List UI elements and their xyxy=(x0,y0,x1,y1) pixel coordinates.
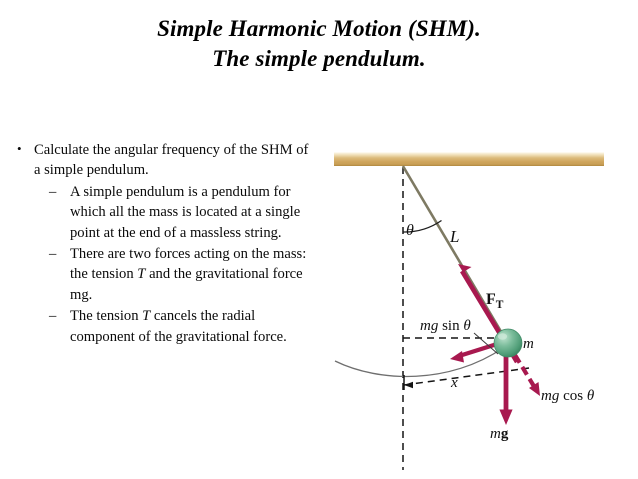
list-item-text: Calculate the angular frequency of the S… xyxy=(34,142,308,178)
bullet-marker-dash: – xyxy=(49,244,56,264)
label-mgcos-fn: cos xyxy=(563,388,583,404)
label-mgsin-mg: mg xyxy=(420,318,438,334)
list-item: – A simple pendulum is a pendulum for wh… xyxy=(8,182,318,243)
label-mg-cos-theta: mg cos θ xyxy=(541,389,594,404)
list-item-text: There are two forces acting on the mass:… xyxy=(70,246,306,303)
bullet-list: • Calculate the angular frequency of the… xyxy=(8,140,318,347)
list-item: • Calculate the angular frequency of the… xyxy=(8,140,318,181)
label-tension-F: F xyxy=(486,291,496,308)
displacement-left-arrowhead xyxy=(404,382,413,389)
label-displacement-x: x xyxy=(451,376,458,391)
pendulum-bob-mass xyxy=(494,329,522,357)
label-mass-m: m xyxy=(523,337,534,352)
pendulum-diagram-svg xyxy=(320,140,638,479)
bullet-marker-dot: • xyxy=(17,139,22,159)
label-mgsin-theta: θ xyxy=(463,318,470,334)
weight-arrowhead xyxy=(499,410,512,426)
list-item-text: A simple pendulum is a pendulum for whic… xyxy=(70,184,300,241)
list-item: – There are two forces acting on the mas… xyxy=(8,244,318,305)
title-line-2: The simple pendulum. xyxy=(0,44,638,74)
label-length-L: L xyxy=(450,228,459,245)
label-angle-theta: θ xyxy=(406,223,414,239)
label-weight-g: g xyxy=(501,426,509,442)
title-line-1: Simple Harmonic Motion (SHM). xyxy=(0,14,638,44)
label-mg-sin-theta: mg sin θ xyxy=(420,319,471,334)
label-weight-mg: mg xyxy=(490,427,508,442)
label-mgsin-fn: sin xyxy=(442,318,460,334)
bullet-marker-dash: – xyxy=(49,306,56,326)
displacement-measure-dashed-line xyxy=(404,368,529,385)
list-item-text: The tension T cancels the radial compone… xyxy=(70,308,287,344)
ceiling-support-bar xyxy=(334,152,604,166)
label-mgcos-mg: mg xyxy=(541,388,559,404)
pendulum-diagram: θ L FT mg sin θ m x mg cos θ mg xyxy=(320,140,638,479)
label-tension-subscript-T: T xyxy=(496,299,504,311)
tangential-component-arrowhead xyxy=(450,351,464,363)
bullet-marker-dash: – xyxy=(49,182,56,202)
label-mgcos-theta: θ xyxy=(587,388,594,404)
page-title: Simple Harmonic Motion (SHM). The simple… xyxy=(0,14,638,74)
label-weight-m: m xyxy=(490,426,501,442)
list-item: – The tension T cancels the radial compo… xyxy=(8,306,318,347)
radial-component-arrow-shaft xyxy=(515,355,535,388)
label-tension-FT: FT xyxy=(486,292,503,312)
slide-canvas: Simple Harmonic Motion (SHM). The simple… xyxy=(0,0,638,479)
text-fragment: The tension xyxy=(70,308,142,324)
